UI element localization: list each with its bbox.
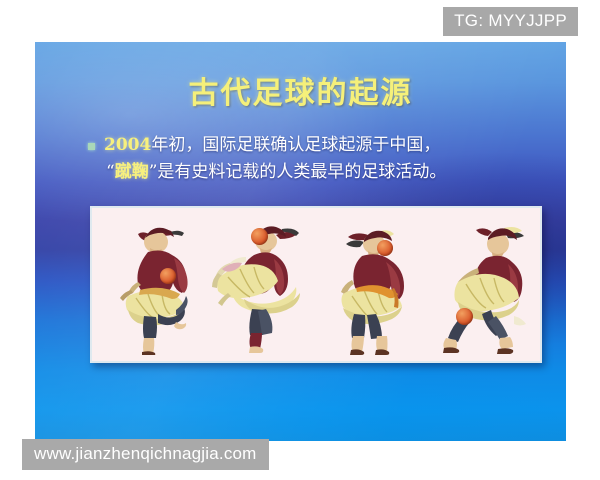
cuju-highlight: 蹴鞠 [115, 162, 149, 182]
slide-title: 古代足球的起源 [35, 68, 566, 112]
cuju-ball-4 [456, 308, 473, 325]
cuju-ball-3 [377, 240, 393, 256]
tg-watermark-badge: TG: MYYJJPP [443, 7, 578, 36]
cuju-illustration [90, 206, 542, 363]
bullet-line-1-rest: 年初，国际足联确认足球起源于中国， [151, 135, 440, 155]
cuju-figure-4 [440, 220, 540, 355]
bullet-line-2-rest: 是有史料记载的人类最早的足球活动。 [157, 162, 446, 182]
presentation-slide: 古代足球的起源 2004年初，国际足联确认足球起源于中国， “蹴鞠”是有史料记载… [35, 42, 566, 441]
cuju-ball-2 [251, 228, 268, 245]
bullet-year-highlight: 2004 [104, 135, 151, 155]
bullet-line-1: 2004年初，国际足联确认足球起源于中国， [104, 132, 544, 159]
quote-open: “ [106, 162, 115, 182]
bullet-item: 2004年初，国际足联确认足球起源于中国， [88, 132, 544, 159]
bullet-line-2: “蹴鞠”是有史料记载的人类最早的足球活动。 [88, 159, 544, 186]
slide-body: 2004年初，国际足联确认足球起源于中国， “蹴鞠”是有史料记载的人类最早的足球… [88, 132, 544, 186]
cuju-ball-1 [160, 268, 176, 284]
site-watermark: www.jianzhenqichnagjia.com [22, 439, 269, 470]
bullet-square-icon [88, 143, 95, 150]
cuju-figure-1 [114, 222, 210, 355]
